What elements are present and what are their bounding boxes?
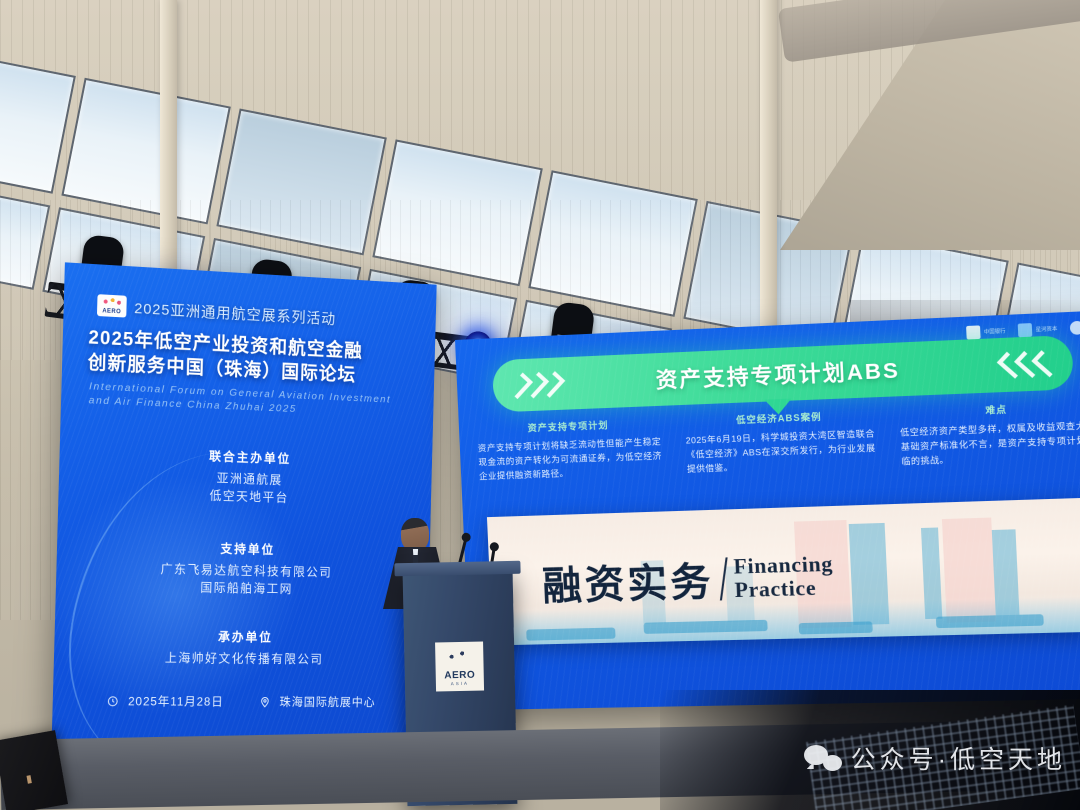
conference-photo: AERO 2025亚洲通用航空展系列活动 2025年低空产业投资和航空金融 创新… <box>0 0 1080 810</box>
podium-top <box>394 561 520 577</box>
podium-aero-logo: AERO ASIA <box>435 642 484 692</box>
wechat-icon <box>804 745 842 771</box>
podium-logo-main: AERO <box>444 670 475 682</box>
event-banner-screen: AERO 2025亚洲通用航空展系列活动 2025年低空产业投资和航空金融 创新… <box>51 262 437 762</box>
window-pane <box>0 47 76 194</box>
watermark-text: 公众号·低空天地 <box>851 740 1066 776</box>
podium-logo-dots <box>435 649 483 663</box>
screen-led-grain <box>455 310 1080 710</box>
speaker-head <box>401 518 429 551</box>
wechat-watermark: 公众号·低空天地 <box>804 740 1066 776</box>
podium-logo-sub: ASIA <box>451 681 469 686</box>
presentation-screen: 中国银行 星河资本 Pay 资产支持专项计划ABS 资产支持专项计划 资产支持专… <box>455 310 1080 710</box>
monitor-led <box>27 775 32 784</box>
banner-led-grain <box>51 262 437 762</box>
